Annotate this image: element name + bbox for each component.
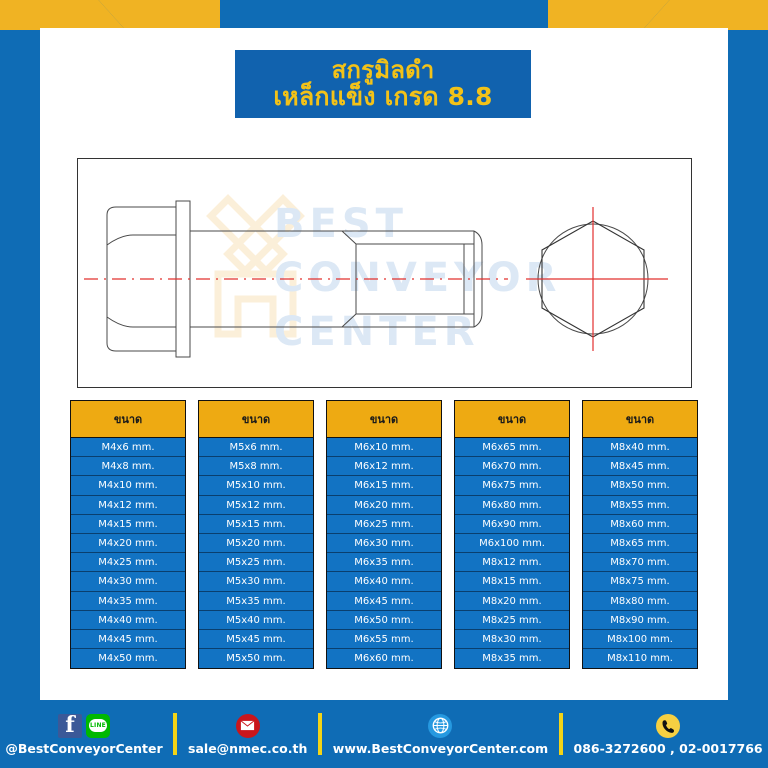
phone-numbers[interactable]: 086-3272600 , 02-0017766 — [574, 741, 763, 756]
watermark-text: BEST CONVEYOR CENTER — [274, 201, 561, 355]
white-content-card: สกรูมิลดำ เหล็กแข็ง เกรด 8.8 BEST CONVEY… — [40, 28, 728, 700]
size-row: M5x15 mm. — [199, 515, 313, 534]
size-table: ขนาดM6x10 mm.M6x12 mm.M6x15 mm.M6x20 mm.… — [326, 400, 442, 669]
footer-email[interactable]: sale@nmec.co.th — [188, 713, 307, 756]
size-row: M6x15 mm. — [327, 476, 441, 495]
footer-social[interactable]: LINE @BestConveyorCenter — [5, 713, 162, 756]
size-row: M6x12 mm. — [327, 457, 441, 476]
size-row: M5x20 mm. — [199, 534, 313, 553]
phone-icon[interactable] — [656, 714, 680, 738]
size-table-header: ขนาด — [199, 401, 313, 438]
size-table-header: ขนาด — [583, 401, 697, 438]
size-table-header: ขนาด — [327, 401, 441, 438]
watermark-line-3: CENTER — [274, 309, 480, 355]
size-row: M8x100 mm. — [583, 630, 697, 649]
size-row: M4x6 mm. — [71, 438, 185, 457]
size-row: M8x90 mm. — [583, 611, 697, 630]
size-row: M6x65 mm. — [455, 438, 569, 457]
top-right-chevrons — [548, 0, 768, 30]
size-row: M4x10 mm. — [71, 476, 185, 495]
size-table-header: ขนาด — [71, 401, 185, 438]
envelope-glyph — [240, 720, 255, 731]
size-row: M6x25 mm. — [327, 515, 441, 534]
size-row: M8x50 mm. — [583, 476, 697, 495]
size-row: M6x100 mm. — [455, 534, 569, 553]
footer-website[interactable]: www.BestConveyorCenter.com — [333, 713, 548, 756]
size-row: M5x12 mm. — [199, 496, 313, 515]
size-row: M4x25 mm. — [71, 553, 185, 572]
size-table: ขนาดM5x6 mm.M5x8 mm.M5x10 mm.M5x12 mm.M5… — [198, 400, 314, 669]
size-row: M5x10 mm. — [199, 476, 313, 495]
footer-divider — [173, 713, 177, 755]
size-row: M6x60 mm. — [327, 649, 441, 668]
size-row: M6x55 mm. — [327, 630, 441, 649]
globe-icon[interactable] — [428, 714, 452, 738]
facebook-icon[interactable] — [58, 714, 82, 738]
size-row: M5x50 mm. — [199, 649, 313, 668]
poster-root: สกรูมิลดำ เหล็กแข็ง เกรด 8.8 BEST CONVEY… — [0, 0, 768, 768]
size-table: ขนาดM8x40 mm.M8x45 mm.M8x50 mm.M8x55 mm.… — [582, 400, 698, 669]
size-row: M6x20 mm. — [327, 496, 441, 515]
size-table: ขนาดM6x65 mm.M6x70 mm.M6x75 mm.M6x80 mm.… — [454, 400, 570, 669]
size-row: M5x6 mm. — [199, 438, 313, 457]
facebook-handle[interactable]: @BestConveyorCenter — [5, 741, 162, 756]
size-row: M6x75 mm. — [455, 476, 569, 495]
size-row: M8x60 mm. — [583, 515, 697, 534]
size-row: M8x70 mm. — [583, 553, 697, 572]
size-row: M5x40 mm. — [199, 611, 313, 630]
size-row: M5x45 mm. — [199, 630, 313, 649]
size-row: M8x20 mm. — [455, 592, 569, 611]
size-row: M4x30 mm. — [71, 572, 185, 591]
size-row: M5x8 mm. — [199, 457, 313, 476]
size-row: M4x40 mm. — [71, 611, 185, 630]
size-row: M5x30 mm. — [199, 572, 313, 591]
size-row: M4x15 mm. — [71, 515, 185, 534]
watermark-line-1: BEST — [274, 201, 408, 247]
title-line-1: สกรูมิลดำ — [332, 58, 435, 84]
globe-glyph — [432, 717, 449, 734]
website-url[interactable]: www.BestConveyorCenter.com — [333, 741, 548, 756]
size-row: M4x8 mm. — [71, 457, 185, 476]
size-row: M4x50 mm. — [71, 649, 185, 668]
size-row: M6x70 mm. — [455, 457, 569, 476]
size-table-header: ขนาด — [455, 401, 569, 438]
size-row: M6x30 mm. — [327, 534, 441, 553]
size-row: M6x35 mm. — [327, 553, 441, 572]
title-line-2: เหล็กแข็ง เกรด 8.8 — [273, 83, 492, 110]
size-row: M8x65 mm. — [583, 534, 697, 553]
size-row: M8x25 mm. — [455, 611, 569, 630]
size-row: M8x80 mm. — [583, 592, 697, 611]
email-icon[interactable] — [236, 714, 260, 738]
footer-contact-bar: LINE @BestConveyorCenter sale@nmec.co.th — [0, 700, 768, 768]
size-row: M6x80 mm. — [455, 496, 569, 515]
size-row: M4x35 mm. — [71, 592, 185, 611]
size-row: M8x12 mm. — [455, 553, 569, 572]
size-row: M4x45 mm. — [71, 630, 185, 649]
size-tables: ขนาดM4x6 mm.M4x8 mm.M4x10 mm.M4x12 mm.M4… — [70, 400, 698, 669]
size-row: M6x10 mm. — [327, 438, 441, 457]
size-row: M8x15 mm. — [455, 572, 569, 591]
size-row: M8x30 mm. — [455, 630, 569, 649]
bolt-end-view — [526, 207, 668, 351]
size-row: M6x45 mm. — [327, 592, 441, 611]
size-row: M8x35 mm. — [455, 649, 569, 668]
bolt-technical-drawing: BEST CONVEYOR CENTER — [77, 158, 692, 388]
size-row: M8x40 mm. — [583, 438, 697, 457]
size-row: M4x12 mm. — [71, 496, 185, 515]
email-address[interactable]: sale@nmec.co.th — [188, 741, 307, 756]
footer-divider — [559, 713, 563, 755]
size-row: M6x50 mm. — [327, 611, 441, 630]
top-left-chevrons — [0, 0, 220, 30]
handset-glyph — [661, 719, 675, 733]
line-icon-label: LINE — [89, 719, 107, 732]
size-row: M5x35 mm. — [199, 592, 313, 611]
footer-phone[interactable]: 086-3272600 , 02-0017766 — [574, 713, 763, 756]
line-icon[interactable]: LINE — [86, 714, 110, 738]
size-row: M5x25 mm. — [199, 553, 313, 572]
watermark-line-2: CONVEYOR — [274, 255, 561, 301]
footer-divider — [318, 713, 322, 755]
page-title: สกรูมิลดำ เหล็กแข็ง เกรด 8.8 — [235, 50, 531, 118]
size-row: M8x75 mm. — [583, 572, 697, 591]
size-row: M8x55 mm. — [583, 496, 697, 515]
size-row: M8x110 mm. — [583, 649, 697, 668]
size-row: M6x90 mm. — [455, 515, 569, 534]
size-row: M4x20 mm. — [71, 534, 185, 553]
size-row: M6x40 mm. — [327, 572, 441, 591]
size-table: ขนาดM4x6 mm.M4x8 mm.M4x10 mm.M4x12 mm.M4… — [70, 400, 186, 669]
size-row: M8x45 mm. — [583, 457, 697, 476]
